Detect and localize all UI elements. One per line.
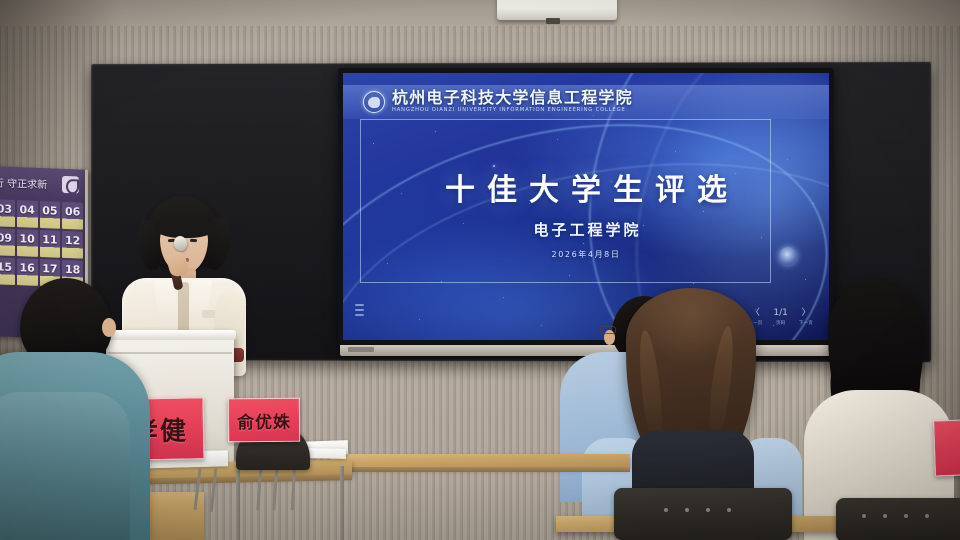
slide-subtitle: 电子工程学院 bbox=[343, 219, 829, 240]
desk-leg-b bbox=[340, 466, 344, 540]
presenter-bangs bbox=[154, 212, 216, 238]
slide-counter[interactable]: 1/1页码 bbox=[773, 308, 787, 326]
pocket-chart-cell: 05 bbox=[40, 201, 61, 229]
pocket-chart-number: 09 bbox=[0, 231, 15, 245]
chair-right bbox=[836, 498, 960, 540]
university-name-cn: 杭州电子科技大学信息工程学院 bbox=[392, 90, 633, 106]
desk-middle-right bbox=[330, 454, 630, 467]
pocket-chart-number: 04 bbox=[17, 203, 38, 217]
pocket-chart-cell: 16 bbox=[17, 258, 38, 286]
pocket-chart-cell: 10 bbox=[17, 229, 38, 257]
pocket-chart-grid: 030405060910111215161718 bbox=[0, 196, 85, 291]
ceiling-unit bbox=[497, 0, 617, 20]
pocket-chart-cell: 15 bbox=[0, 257, 15, 285]
chair-center-dots bbox=[664, 508, 731, 512]
pocket-chart-number: 11 bbox=[40, 233, 61, 247]
bank-logo-icon bbox=[62, 175, 79, 193]
university-name-en: HANGZHOU DIANZI UNIVERSITY INFORMATION E… bbox=[392, 108, 633, 113]
pocket-chart-number: 05 bbox=[40, 204, 61, 218]
ceiling-unit-mount bbox=[546, 18, 560, 24]
interactive-display-panel[interactable]: 杭州电子科技大学信息工程学院 HANGZHOU DIANZI UNIVERSIT… bbox=[338, 68, 834, 345]
podium-edge-line bbox=[108, 352, 232, 354]
star-particle bbox=[787, 159, 788, 160]
podium-top-surface bbox=[104, 330, 236, 340]
student-front-left-shoulder bbox=[0, 392, 130, 540]
pocket-chart-number: 10 bbox=[17, 232, 38, 246]
next-slide-button-label: 下一页 bbox=[799, 320, 813, 326]
pocket-chart-cell: 12 bbox=[62, 231, 83, 259]
star-particle bbox=[419, 319, 420, 320]
pocket-chart-number: 06 bbox=[62, 205, 83, 219]
pocket-chart-number: 18 bbox=[62, 263, 83, 277]
star-particle bbox=[693, 283, 694, 284]
slide-content: 十佳大学生评选 电子工程学院 2026年4月8日 bbox=[343, 165, 829, 260]
desk-leg-a bbox=[236, 470, 240, 540]
pocket-chart-cell: 03 bbox=[0, 199, 15, 227]
chair-right-dots bbox=[862, 514, 929, 518]
namecard-center: 俞优姝 bbox=[228, 398, 300, 443]
soundbar-brand-logo bbox=[348, 347, 374, 352]
pocket-chart-number: 15 bbox=[0, 260, 15, 274]
star-particle bbox=[503, 297, 504, 298]
desk-middle-right-edge bbox=[330, 467, 630, 472]
classroom-scene: 行 守正求新 030405060910111215161718 杭州电子科技大学… bbox=[0, 0, 960, 540]
presenter-eye-right bbox=[190, 239, 197, 242]
pocket-chart-cell: 04 bbox=[17, 200, 38, 228]
pocket-chart-number: 17 bbox=[40, 262, 61, 276]
slide-counter-label: 页码 bbox=[776, 320, 785, 326]
student-front-left-ear bbox=[102, 318, 116, 337]
pocket-chart-number: 03 bbox=[0, 202, 15, 216]
pocket-chart-header: 行 守正求新 bbox=[0, 166, 85, 200]
pocket-chart-number: 12 bbox=[62, 234, 83, 248]
star-particle bbox=[541, 325, 542, 326]
pocket-chart-cell: 11 bbox=[40, 230, 61, 258]
slide-date: 2026年4月8日 bbox=[343, 249, 829, 260]
slide-watermark-icon bbox=[779, 247, 797, 265]
display-screen[interactable]: 杭州电子科技大学信息工程学院 HANGZHOU DIANZI UNIVERSIT… bbox=[343, 73, 829, 340]
slide-counter-icon: 1/1 bbox=[773, 308, 787, 318]
namecard-center-text: 俞优姝 bbox=[237, 407, 291, 432]
pocket-chart-header-text: 行 守正求新 bbox=[0, 174, 47, 191]
pocket-chart-cell: 06 bbox=[62, 202, 83, 230]
slide-title: 十佳大学生评选 bbox=[343, 165, 829, 209]
pocket-chart-number: 16 bbox=[17, 261, 38, 275]
slide-header-bar: 杭州电子科技大学信息工程学院 HANGZHOU DIANZI UNIVERSIT… bbox=[343, 85, 829, 119]
next-slide-button[interactable]: 〉下一页 bbox=[799, 308, 813, 326]
prev-slide-button-icon: 〈 bbox=[751, 308, 760, 318]
star-particle bbox=[805, 279, 806, 280]
display-soundbar bbox=[340, 345, 832, 356]
student-center-left-glasses bbox=[600, 326, 616, 334]
chair-center bbox=[614, 488, 792, 540]
pocket-chart-cell: 09 bbox=[0, 228, 15, 256]
university-seal-icon bbox=[363, 91, 385, 113]
university-name-block: 杭州电子科技大学信息工程学院 HANGZHOU DIANZI UNIVERSIT… bbox=[392, 90, 633, 113]
screen-status-indicator bbox=[355, 304, 364, 316]
namecard-right bbox=[933, 419, 960, 476]
next-slide-button-icon: 〉 bbox=[801, 308, 810, 318]
